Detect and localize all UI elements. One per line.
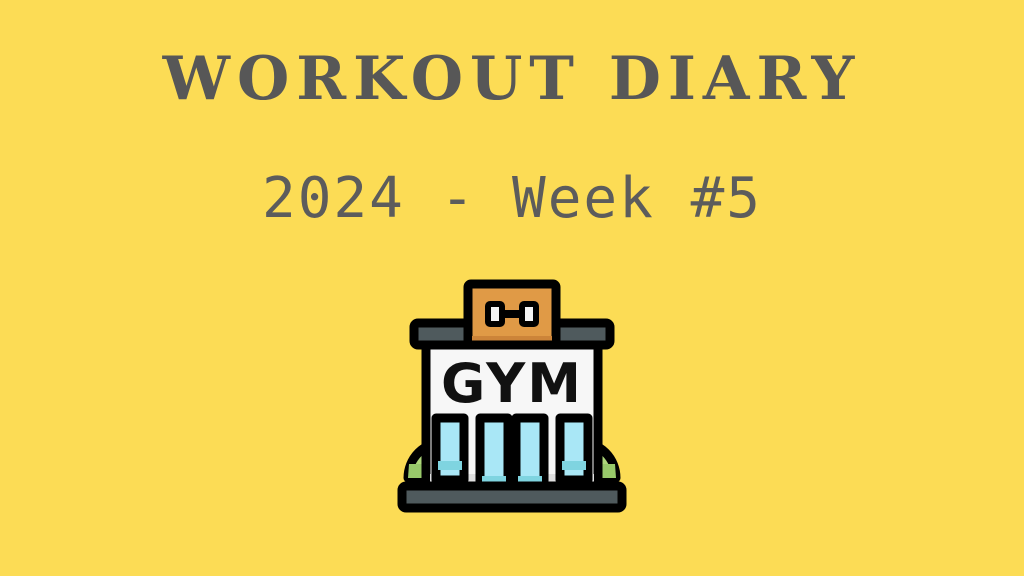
gym-building-icon: GYM <box>392 278 632 518</box>
window-center-left <box>480 418 508 490</box>
window-right <box>560 418 588 480</box>
window-left <box>436 418 464 480</box>
page-subtitle: 2024 - Week #5 <box>0 165 1024 232</box>
page-title: WORKOUT DIARY <box>0 46 1024 112</box>
slide-canvas: WORKOUT DIARY 2024 - Week #5 <box>0 0 1024 576</box>
gym-sign-text: GYM <box>441 352 583 415</box>
gym-sign-board <box>468 284 556 346</box>
window-center-right <box>516 418 544 490</box>
building-base <box>402 486 622 508</box>
